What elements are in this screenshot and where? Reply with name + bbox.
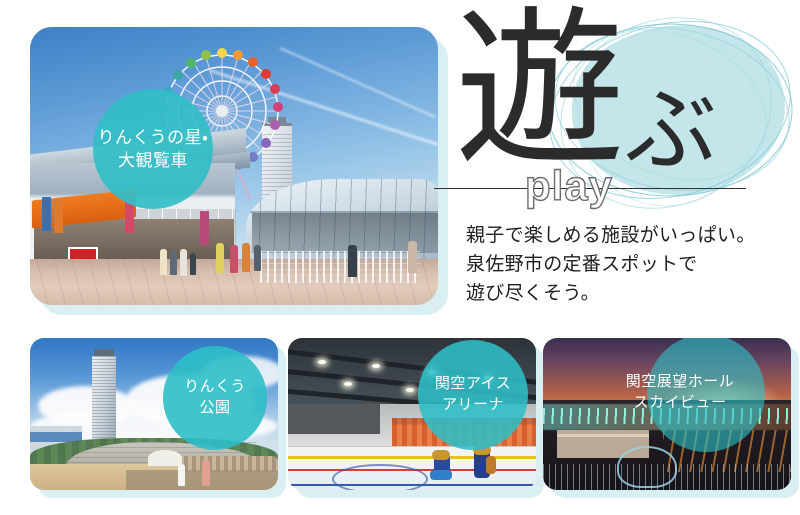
rink-kickplate xyxy=(288,456,536,459)
person xyxy=(348,245,357,277)
title-romaji: play xyxy=(525,162,613,210)
person xyxy=(230,245,238,273)
badge-line1: 関空展望ホール xyxy=(626,372,735,393)
arena-wall-shadow xyxy=(288,404,380,434)
description-line-2: 泉佐野市の定番スポットで xyxy=(466,251,786,280)
person xyxy=(254,245,261,271)
thumbnail-photo-1[interactable]: りんくう 公園 xyxy=(30,338,278,490)
observation-railing xyxy=(543,464,791,490)
person xyxy=(170,251,177,275)
thumbnail-card-ice-arena[interactable]: 関空アイス アリーナ xyxy=(288,338,543,498)
mascot-cape xyxy=(430,470,452,480)
gate-tower-building xyxy=(92,356,116,448)
hero-badge-line2: 大観覧車 xyxy=(118,149,188,172)
faceoff-circle xyxy=(332,464,428,490)
hero-photo-card[interactable]: りんくうの星・ 大観覧車 xyxy=(30,27,448,315)
description-text: 親子で楽しめる施設がいっぱい。 泉佐野市の定番スポットで 遊び尽くそう。 xyxy=(466,222,786,309)
thumbnail-badge-2[interactable]: 関空アイス アリーナ xyxy=(418,340,528,450)
ceiling-light-icon xyxy=(344,382,352,386)
hero-banner: りんくうの星・ 大観覧車 遊 ぶ play 親子で楽しめる施設がいっぱい。 泉佐… xyxy=(0,0,800,515)
thumbnail-photo-3[interactable]: 関空展望ホール スカイビュー xyxy=(543,338,791,490)
hero-badge[interactable]: りんくうの星・ 大観覧車 xyxy=(93,89,213,209)
person xyxy=(242,243,250,272)
person xyxy=(190,253,196,275)
thumbnail-card-sky-view[interactable]: 関空展望ホール スカイビュー xyxy=(543,338,798,498)
description-line-3: 遊び尽くそう。 xyxy=(466,280,786,309)
person xyxy=(408,241,417,273)
shop-banner xyxy=(42,197,51,231)
mascot-cape xyxy=(486,456,496,474)
badge-line2: スカイビュー xyxy=(633,393,726,414)
ceiling-light-icon xyxy=(406,388,414,392)
thumbnail-badge-1[interactable]: りんくう 公園 xyxy=(163,346,267,450)
tent-icon xyxy=(148,450,182,466)
badge-line2: 公園 xyxy=(199,398,230,419)
thumbnail-badge-3[interactable]: 関空展望ホール スカイビュー xyxy=(647,338,765,452)
title-block: 遊 ぶ play xyxy=(430,10,790,210)
mascot-head xyxy=(432,450,450,460)
person xyxy=(180,249,187,276)
badge-line1: りんくう xyxy=(184,377,246,398)
title-kana: ぶ xyxy=(625,85,717,177)
thumbnail-photo-2[interactable]: 関空アイス アリーナ xyxy=(288,338,536,490)
thumbnail-card-rinku-park[interactable]: りんくう 公園 xyxy=(30,338,285,498)
outdoor-chairs xyxy=(260,251,420,283)
title-kanji: 遊 xyxy=(455,6,625,176)
badge-line2: アリーナ xyxy=(442,395,504,416)
person xyxy=(160,249,167,275)
shop-banner xyxy=(200,211,209,245)
badge-line1: 関空アイス xyxy=(435,374,511,395)
ceiling-light-icon xyxy=(318,360,326,364)
person xyxy=(216,243,224,273)
ceiling-light-icon xyxy=(372,364,380,368)
description-line-1: 親子で楽しめる施設がいっぱい。 xyxy=(466,222,786,251)
hero-badge-line1: りんくうの星・ xyxy=(98,126,209,149)
person xyxy=(202,460,210,486)
shop-banner xyxy=(54,199,63,233)
hero-photo[interactable]: りんくうの星・ 大観覧車 xyxy=(30,27,438,305)
person xyxy=(178,464,185,486)
